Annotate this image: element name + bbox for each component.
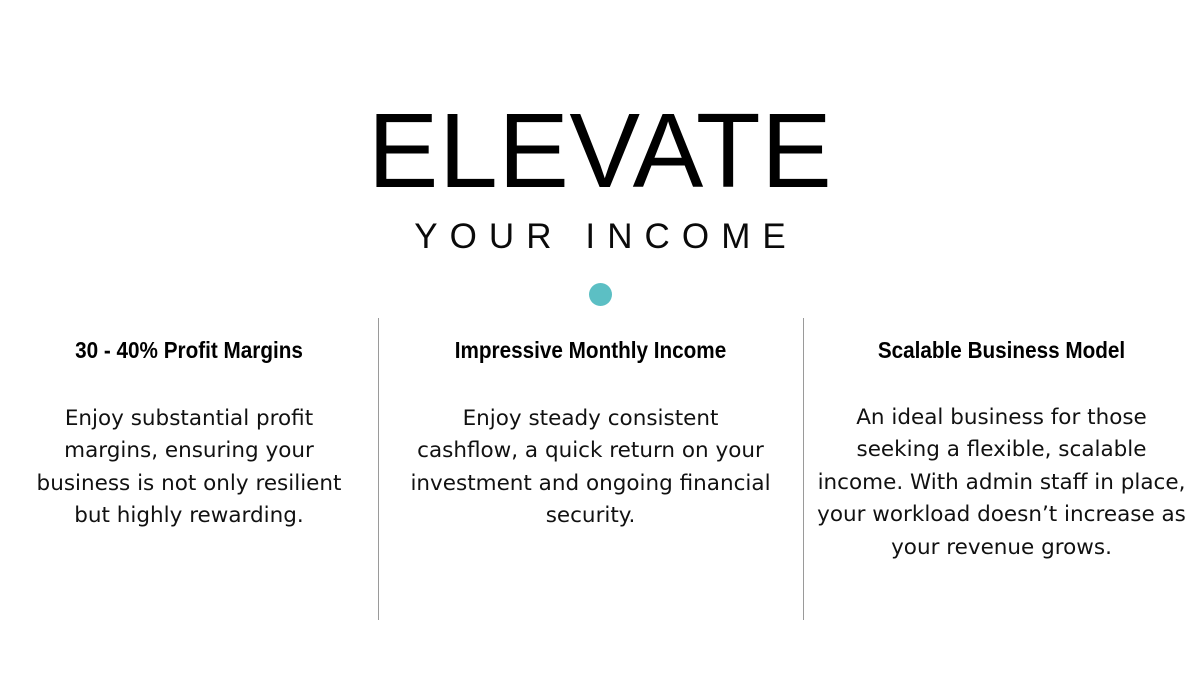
column-heading: 30 - 40% Profit Margins xyxy=(42,336,335,365)
column-scalable-model: Scalable Business Model An ideal busines… xyxy=(803,336,1200,564)
column-heading: Impressive Monthly Income xyxy=(428,336,753,365)
title-block: ELEVATE YOUR INCOME xyxy=(0,96,1200,257)
teal-dot-icon xyxy=(589,283,612,306)
page-subtitle: YOUR INCOME xyxy=(0,218,1200,257)
column-heading: Scalable Business Model xyxy=(835,336,1167,365)
column-body-text: An ideal business for those seeking a fl… xyxy=(817,402,1186,565)
page-title: ELEVATE xyxy=(0,96,1200,206)
column-body-text: Enjoy substantial profit margins, ensuri… xyxy=(26,403,352,533)
column-monthly-income: Impressive Monthly Income Enjoy steady c… xyxy=(378,336,803,533)
slide-canvas: ELEVATE YOUR INCOME 30 - 40% Profit Marg… xyxy=(0,0,1200,674)
column-profit-margins: 30 - 40% Profit Margins Enjoy substantia… xyxy=(0,336,378,533)
column-body-text: Enjoy steady consistent cashflow, a quic… xyxy=(410,403,771,533)
columns-container: 30 - 40% Profit Margins Enjoy substantia… xyxy=(0,336,1200,564)
